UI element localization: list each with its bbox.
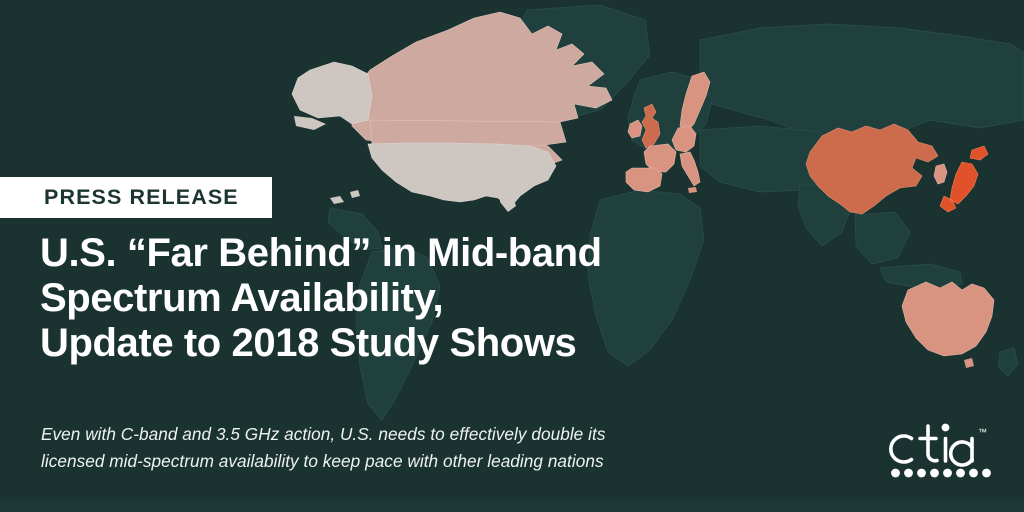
subtitle-line-2: licensed mid-spectrum availability to ke… <box>41 448 771 475</box>
logo-trademark: ™ <box>978 427 987 437</box>
logo-dot <box>930 469 939 478</box>
logo-dot <box>982 469 991 478</box>
headline-line-3: Update to 2018 Study Shows <box>40 321 800 366</box>
logo-letter-i-dot <box>942 424 950 432</box>
logo-letter-t-stem <box>928 426 937 461</box>
press-release-graphic: PRESS RELEASE U.S. “Far Behind” in Mid-b… <box>0 0 1024 512</box>
ctia-logo-svg: ™ <box>886 414 994 480</box>
ctia-wordmark-glyphs <box>891 426 972 465</box>
headline-line-2: Spectrum Availability, <box>40 276 800 321</box>
press-release-badge-label: PRESS RELEASE <box>44 187 239 209</box>
press-release-badge: PRESS RELEASE <box>0 177 272 218</box>
logo-dot <box>917 469 926 478</box>
content-overlay: PRESS RELEASE U.S. “Far Behind” in Mid-b… <box>0 0 1024 512</box>
page-subtitle: Even with C-band and 3.5 GHz action, U.S… <box>41 421 771 475</box>
logo-letter-a-bowl <box>951 442 972 465</box>
logo-letter-c <box>891 436 912 462</box>
logo-dot-row <box>891 469 991 478</box>
subtitle-line-1: Even with C-band and 3.5 GHz action, U.S… <box>41 421 771 448</box>
page-title: U.S. “Far Behind” in Mid-band Spectrum A… <box>40 231 800 366</box>
logo-dot <box>969 469 978 478</box>
logo-dot <box>943 469 952 478</box>
headline-line-1: U.S. “Far Behind” in Mid-band <box>40 231 800 276</box>
logo-dot <box>904 469 913 478</box>
ctia-logo: ™ <box>886 414 994 480</box>
logo-dot <box>891 469 900 478</box>
logo-dot <box>956 469 965 478</box>
